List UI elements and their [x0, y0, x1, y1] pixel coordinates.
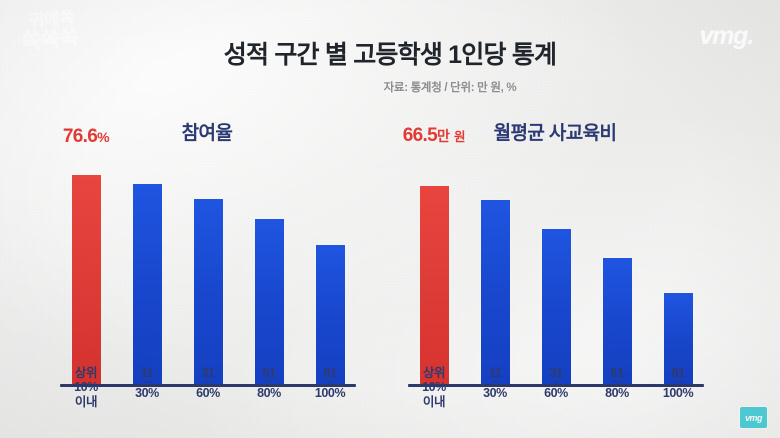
bar-participation-0[interactable] — [72, 175, 101, 384]
bar-slot — [652, 152, 704, 384]
bar-slot — [591, 152, 643, 384]
bar-value-callout: 66.5만 원 — [403, 126, 465, 147]
callout-unit: % — [97, 129, 109, 145]
bar-expense-2[interactable] — [542, 229, 571, 384]
bar-slot: 76.6% — [60, 152, 112, 384]
bar-participation-2[interactable] — [194, 199, 223, 384]
x-axis-labels-expense: 상위 10% 이내 11 ~ 30% 31 ~ 60% 61 ~ 80% 81 — [408, 366, 704, 410]
x-label-line2: 60% — [530, 386, 582, 401]
bar-expense-1[interactable] — [481, 200, 510, 384]
bar-value-callout: 76.6% — [63, 127, 109, 147]
x-label-3: 61 ~ 80% — [591, 366, 643, 410]
x-label-1: 11 ~ 30% — [469, 366, 521, 410]
x-label-4: 81 ~ 100% — [304, 366, 356, 410]
bar-slot: 66.5만 원 — [408, 152, 460, 384]
x-label-line2: 10% — [408, 380, 460, 395]
bar-slot — [243, 152, 295, 384]
bar-slot — [469, 152, 521, 384]
x-label-line1: 상위 — [423, 366, 445, 380]
callout-unit-2: 원 — [454, 130, 465, 144]
callout-unit: 만 — [437, 128, 449, 144]
badge-label: vmg — [745, 413, 762, 423]
x-label-line3: 이내 — [408, 395, 460, 410]
callout-value: 76.6 — [63, 126, 97, 147]
bar-expense-0[interactable] — [420, 186, 449, 384]
chart-panel-expense: 월평균 사교육비 66.5만 원 — [400, 118, 710, 418]
x-label-1: 11 ~ 30% — [121, 366, 173, 410]
infographic-canvas: 귀에쏙 쏙쏙쏙 vmg. 성적 구간 별 고등학생 1인당 통계 자료: 통계청… — [0, 0, 780, 438]
callout-value: 66.5 — [403, 125, 437, 146]
bar-participation-3[interactable] — [255, 219, 284, 384]
plot-area-participation: 76.6% — [52, 152, 362, 387]
bar-slot — [304, 152, 356, 384]
x-label-0: 상위 10% 이내 — [408, 366, 460, 410]
x-label-0: 상위 10% 이내 — [60, 366, 112, 410]
bar-slot — [182, 152, 234, 384]
x-label-line1: 상위 — [75, 366, 97, 380]
plot-area-expense: 66.5만 원 — [400, 152, 710, 387]
bar-slot — [121, 152, 173, 384]
bar-participation-4[interactable] — [316, 245, 345, 384]
page-title: 성적 구간 별 고등학생 1인당 통계 — [0, 40, 780, 70]
vmg-corner-badge: vmg — [740, 407, 767, 428]
bar-participation-1[interactable] — [133, 184, 162, 384]
bar-group-participation: 76.6% — [60, 152, 356, 384]
page-subtitle-source: 자료: 통계청 / 단위: 만 원, % — [0, 79, 780, 95]
x-label-line2: 60% — [182, 386, 234, 401]
chart-panel-participation: 참여율 76.6% — [52, 118, 362, 418]
x-label-line2: 30% — [469, 386, 521, 401]
bar-group-expense: 66.5만 원 — [408, 152, 704, 384]
x-label-line2: 100% — [652, 386, 704, 401]
x-label-2: 31 ~ 60% — [530, 366, 582, 410]
x-label-4: 81 ~ 100% — [652, 366, 704, 410]
x-label-line2: 100% — [304, 386, 356, 401]
x-label-line2: 80% — [243, 386, 295, 401]
x-label-line3: 이내 — [60, 395, 112, 410]
x-label-3: 61 ~ 80% — [243, 366, 295, 410]
x-label-2: 31 ~ 60% — [182, 366, 234, 410]
x-axis-labels-participation: 상위 10% 이내 11 ~ 30% 31 ~ 60% 61 ~ 80% 81 — [60, 366, 356, 410]
x-label-line2: 30% — [121, 386, 173, 401]
header: 성적 구간 별 고등학생 1인당 통계 자료: 통계청 / 단위: 만 원, % — [0, 40, 780, 95]
x-label-line2: 10% — [60, 380, 112, 395]
bar-slot — [530, 152, 582, 384]
x-label-line2: 80% — [591, 386, 643, 401]
